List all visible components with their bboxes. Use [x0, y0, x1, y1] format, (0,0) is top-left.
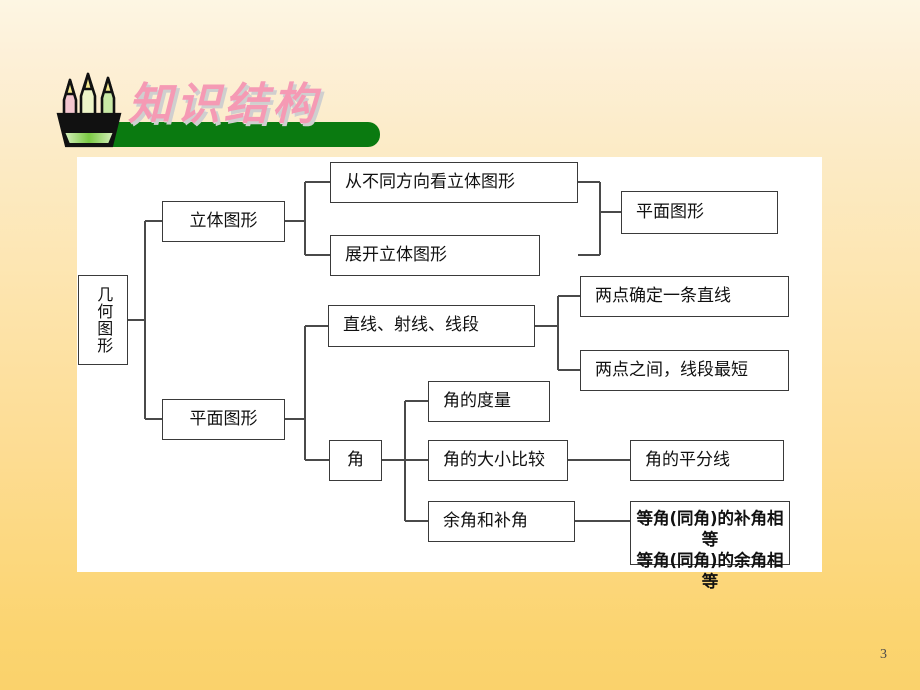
page-number: 3 — [880, 647, 887, 663]
node-angle-bisector[interactable]: 角的平分线 — [630, 440, 784, 481]
node-line-ray-segment[interactable]: 直线、射线、线段 — [328, 305, 535, 347]
slide: 知识结构 — [0, 0, 920, 690]
node-complement-supplement[interactable]: 余角和补角 — [428, 501, 575, 542]
node-equal-angles-rule[interactable]: 等角(同角)的补角相等 等角(同角)的余角相等 — [630, 501, 790, 565]
node-plane-figures-left[interactable]: 平面图形 — [162, 399, 285, 440]
pencil-cup-icon — [50, 70, 128, 150]
node-view-from-directions[interactable]: 从不同方向看立体图形 — [330, 162, 578, 203]
node-two-points-shortest[interactable]: 两点之间，线段最短 — [580, 350, 789, 391]
node-root[interactable]: 几何图形 — [78, 275, 128, 365]
node-angle-measure[interactable]: 角的度量 — [428, 381, 550, 422]
slide-header: 知识结构 — [0, 34, 920, 122]
node-angle[interactable]: 角 — [329, 440, 382, 481]
node-plane-figures-right[interactable]: 平面图形 — [621, 191, 778, 234]
node-angle-comparison[interactable]: 角的大小比较 — [428, 440, 568, 481]
banner-title: 知识结构 — [128, 74, 378, 136]
node-two-points-determine-line[interactable]: 两点确定一条直线 — [580, 276, 789, 317]
node-solid-figures[interactable]: 立体图形 — [162, 201, 285, 242]
node-unfold-solid[interactable]: 展开立体图形 — [330, 235, 540, 276]
